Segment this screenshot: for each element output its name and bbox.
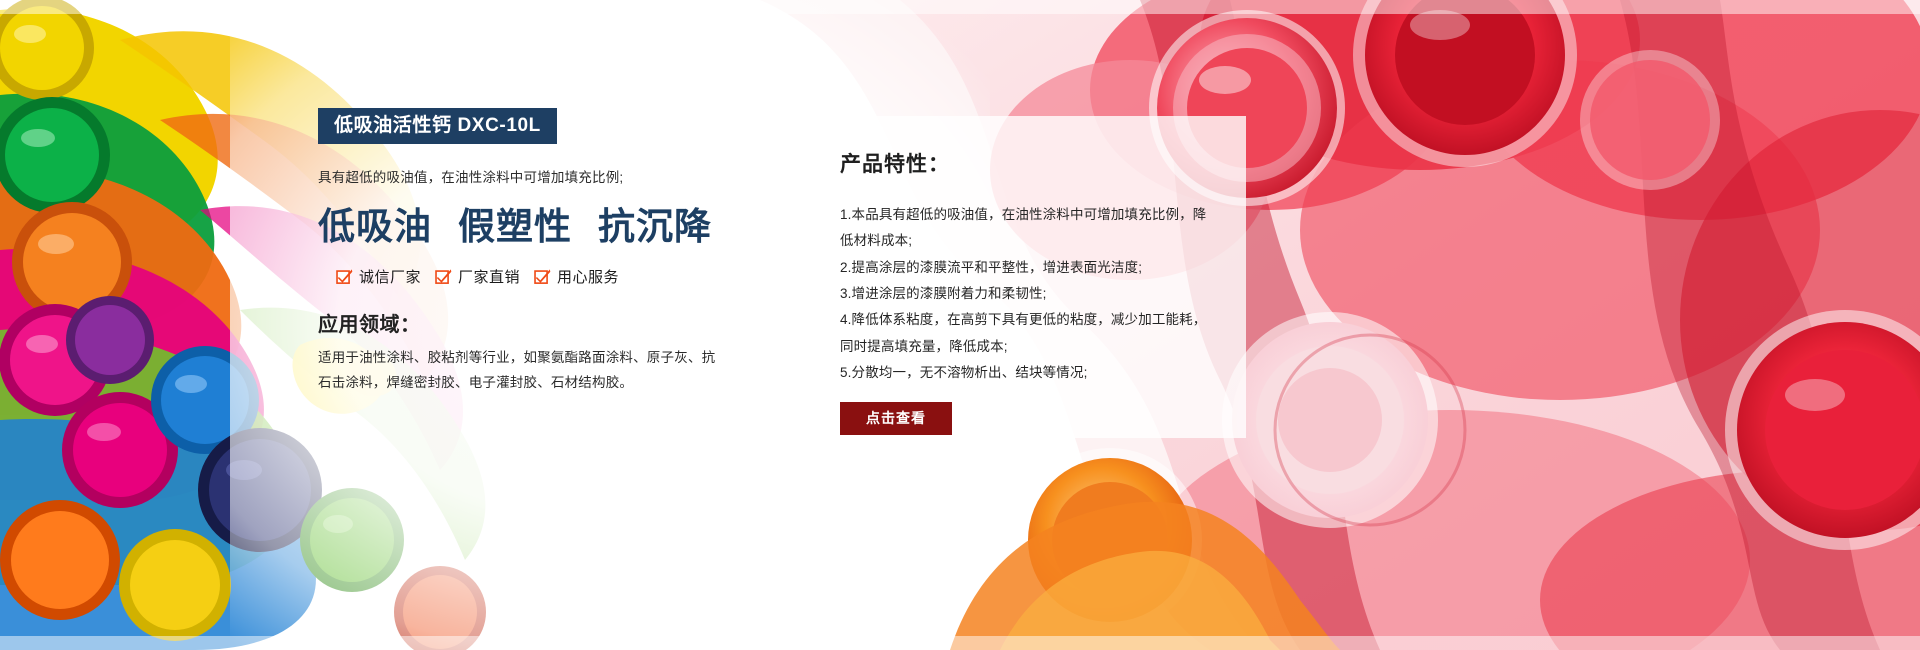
paint-pot-right-6 [1018, 448, 1202, 632]
feature-tag-label: 用心服务 [557, 266, 619, 287]
paint-pot-left-2 [0, 97, 110, 213]
feature-tag-label: 诚信厂家 [359, 266, 421, 287]
paint-pot-left-10 [119, 529, 231, 641]
feature-list-item: 3.增进涂层的漆膜附着力和柔韧性; [840, 281, 1212, 307]
paint-pot-left-11 [0, 500, 120, 620]
paint-pot-left-3 [12, 202, 132, 322]
paint-pot-right-7 [1580, 50, 1720, 190]
feature-tag-label: 厂家直销 [458, 266, 520, 287]
feature-tag-1[interactable]: 诚信厂家 [336, 266, 421, 287]
paint-pot-left-8 [198, 428, 322, 552]
application-description: 适用于油性涂料、胶粘剂等行业，如聚氨酯路面涂料、原子灰、抗石击涂料，焊缝密封胶、… [318, 346, 718, 396]
paint-pot-right-5 [1725, 310, 1920, 550]
features-panel-heading: 产品特性： [840, 148, 1212, 178]
paint-pot-right-4 [1275, 335, 1465, 525]
product-features-panel: 产品特性： 1.本品具有超低的吸油值，在油性涂料中可增加填充比例，降低材料成本;… [806, 116, 1246, 438]
feature-list-item: 4.降低体系粘度，在高剪下具有更低的粘度，减少加工能耗，同时提高填充量，降低成本… [840, 307, 1212, 360]
paint-pot-left-5 [66, 296, 154, 384]
paint-pot-left-4 [0, 304, 111, 416]
feature-tag-3[interactable]: 用心服务 [534, 266, 619, 287]
application-heading: 应用领域： [318, 308, 748, 337]
headline-word-1: 低吸油 [318, 205, 432, 248]
paint-pot-left-12 [394, 566, 486, 650]
product-banner: 低吸油活性钙 DXC-10L 具有超低的吸油值，在油性涂料中可增加填充比例; 低… [0, 0, 1920, 650]
paint-pot-left-1 [0, 0, 94, 100]
product-title-badge: 低吸油活性钙 DXC-10L [318, 108, 557, 144]
feature-list-item: 2.提高涂层的漆膜流平和平整性，增进表面光洁度; [840, 255, 1212, 281]
feature-tag-2[interactable]: 厂家直销 [435, 266, 520, 287]
features-list: 1.本品具有超低的吸油值，在油性涂料中可增加填充比例，降低材料成本; 2.提高涂… [840, 202, 1212, 386]
checkbox-checked-icon [336, 268, 353, 285]
paint-pot-left-7 [151, 346, 259, 454]
checkbox-checked-icon [435, 268, 452, 285]
paint-pot-right-3 [1222, 312, 1438, 528]
view-details-button[interactable]: 点击查看 [840, 402, 952, 435]
product-headline: 低吸油假塑性抗沉降 [318, 205, 748, 248]
checkbox-checked-icon [534, 268, 551, 285]
headline-word-3: 抗沉降 [598, 205, 712, 248]
left-content-block: 低吸油活性钙 DXC-10L 具有超低的吸油值，在油性涂料中可增加填充比例; 低… [318, 108, 748, 396]
product-subtitle: 具有超低的吸油值，在油性涂料中可增加填充比例; [318, 169, 748, 188]
feature-tag-list: 诚信厂家 厂家直销 用心服务 [336, 266, 748, 287]
feature-list-item: 1.本品具有超低的吸油值，在油性涂料中可增加填充比例，降低材料成本; [840, 202, 1212, 255]
paint-pot-right-2 [1353, 0, 1577, 167]
paint-pot-left-6 [62, 392, 178, 508]
feature-list-item: 5.分散均一，无不溶物析出、结块等情况; [840, 360, 1212, 386]
headline-word-2: 假塑性 [458, 205, 572, 248]
paint-pot-left-9 [300, 488, 404, 592]
